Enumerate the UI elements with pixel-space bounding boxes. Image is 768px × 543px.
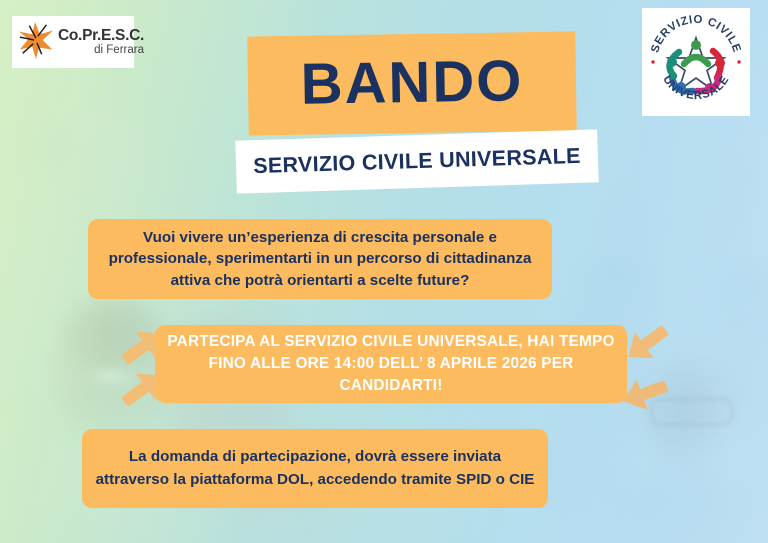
servizio-civile-universale-logo: SERVIZIO CIVILE UNIVERSALE [642, 8, 750, 116]
title-banner: BANDO [247, 31, 577, 135]
copresc-logo-name: Co.Pr.E.S.C. [58, 28, 144, 44]
howto-card-text: La domanda di partecipazione, dovrà esse… [94, 446, 536, 490]
deadline-card: PARTECIPA AL SERVIZIO CIVILE UNIVERSALE,… [155, 325, 627, 403]
copresc-logo: Co.Pr.E.S.C. di Ferrara [12, 16, 134, 68]
page-title: BANDO [300, 52, 524, 113]
copresc-logo-text: Co.Pr.E.S.C. di Ferrara [58, 28, 144, 57]
scu-emblem-icon: SERVIZIO CIVILE UNIVERSALE [646, 12, 746, 112]
star-icon [17, 20, 55, 65]
question-card-text: Vuoi vivere un’esperienza di crescita pe… [98, 227, 542, 292]
question-card: Vuoi vivere un’esperienza di crescita pe… [88, 219, 552, 299]
deadline-card-text: PARTECIPA AL SERVIZIO CIVILE UNIVERSALE,… [167, 331, 615, 398]
poster-canvas: Co.Pr.E.S.C. di Ferrara [0, 0, 768, 543]
page-subtitle: SERVIZIO CIVILE UNIVERSALE [253, 144, 581, 179]
copresc-logo-subtitle: di Ferrara [58, 45, 144, 57]
howto-card: La domanda di partecipazione, dovrà esse… [82, 429, 548, 508]
